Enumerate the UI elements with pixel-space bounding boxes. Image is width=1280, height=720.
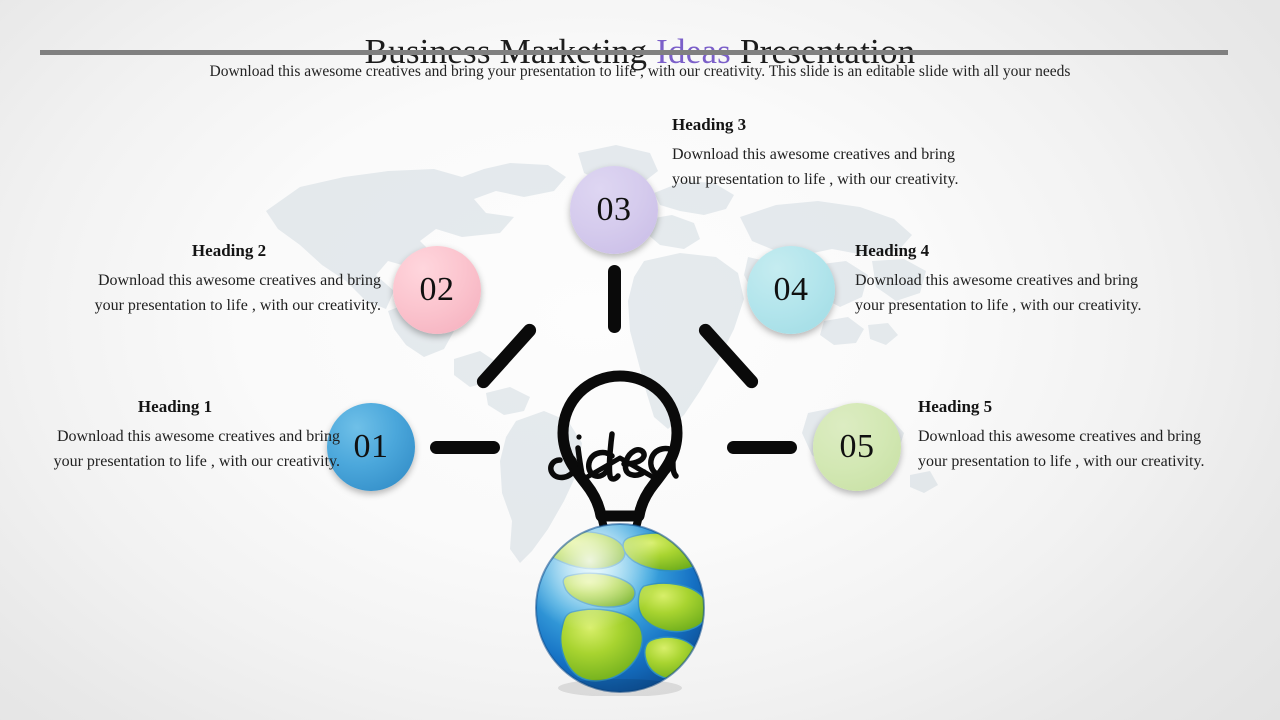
connector-bar-05 [727, 441, 797, 454]
heading-05: Heading 5 [918, 396, 1218, 418]
heading-02: Heading 2 [85, 240, 381, 262]
globe-icon [532, 520, 708, 696]
connector-bar-01 [430, 441, 500, 454]
body-text-04: Download this awesome creatives and brin… [855, 269, 1155, 318]
content-block-03: Heading 3 Download this awesome creative… [672, 114, 972, 192]
step-number-02: 02 [420, 273, 455, 307]
step-circle-05[interactable]: 05 [813, 403, 901, 491]
content-block-05: Heading 5 Download this awesome creative… [918, 396, 1218, 474]
step-circle-01[interactable]: 01 [327, 403, 415, 491]
connector-bar-03 [608, 265, 621, 333]
heading-03: Heading 3 [672, 114, 972, 136]
content-block-01: Heading 1 Download this awesome creative… [28, 396, 340, 474]
step-number-03: 03 [597, 193, 632, 227]
step-circle-03[interactable]: 03 [570, 166, 658, 254]
body-text-01: Download this awesome creatives and brin… [28, 425, 340, 474]
title-divider [40, 50, 1228, 55]
body-text-03: Download this awesome creatives and brin… [672, 143, 972, 192]
heading-01: Heading 1 [28, 396, 340, 418]
presentation-slide: Business Marketing Ideas Presentation Do… [0, 0, 1280, 720]
step-number-04: 04 [774, 273, 809, 307]
content-block-04: Heading 4 Download this awesome creative… [855, 240, 1155, 318]
body-text-02: Download this awesome creatives and brin… [85, 269, 381, 318]
step-circle-04[interactable]: 04 [747, 246, 835, 334]
step-number-05: 05 [840, 430, 875, 464]
step-number-01: 01 [354, 430, 389, 464]
body-text-05: Download this awesome creatives and brin… [918, 425, 1218, 474]
step-circle-02[interactable]: 02 [393, 246, 481, 334]
content-block-02: Heading 2 Download this awesome creative… [85, 240, 381, 318]
heading-04: Heading 4 [855, 240, 1155, 262]
page-subtitle: Download this awesome creatives and brin… [0, 61, 1280, 83]
